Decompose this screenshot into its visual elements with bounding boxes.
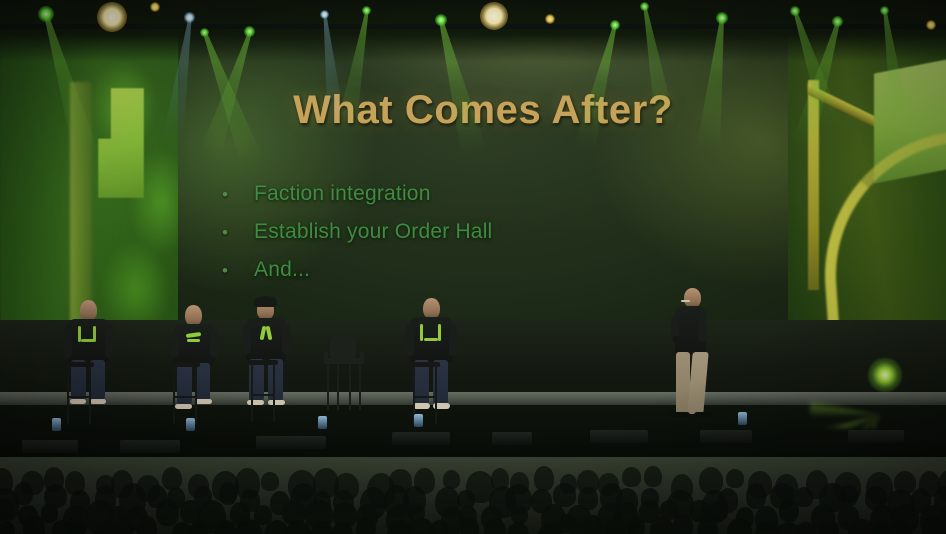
list-item: • Establish your Order Hall: [222, 220, 748, 244]
panelist-2-torso: [174, 324, 214, 366]
panelist-4-arm: [406, 324, 414, 356]
audience-head: [219, 482, 237, 505]
audience-head: [23, 515, 45, 534]
stage-lamp-green: [38, 6, 54, 22]
green-floor-light: [868, 358, 902, 392]
stage-lamp-green: [640, 2, 649, 11]
panelist-4-shirt-logo: [420, 324, 423, 341]
audience-head: [162, 467, 182, 490]
stage-monitor: [22, 440, 78, 453]
floor-par-light: [738, 412, 747, 425]
stage-monitor: [392, 432, 450, 445]
bullet-dot-icon: •: [222, 186, 230, 203]
stage-monitor: [590, 430, 648, 443]
stage-lamp-amber: [926, 20, 936, 30]
list-item: • Faction integration: [222, 182, 748, 206]
projection-screen: What Comes After? • Faction integration …: [178, 30, 788, 320]
audience-head: [644, 466, 662, 487]
audience-head: [559, 514, 577, 533]
audience-head: [872, 519, 891, 534]
panelist-1-arm: [105, 326, 113, 358]
audience-head: [137, 516, 157, 534]
stage-lamp-amber: [545, 14, 555, 24]
stage-lamp-cyan: [320, 10, 329, 19]
slide-title: What Comes After?: [178, 88, 788, 133]
stool-leg: [67, 366, 69, 424]
panelist-1-head: [80, 300, 97, 321]
headset-mic-icon: [681, 300, 690, 302]
audience-head: [0, 499, 14, 520]
stool-leg: [273, 364, 275, 422]
panelist-2-shirt-logo: [187, 339, 200, 342]
stage-monitor: [492, 432, 532, 445]
audience-head: [0, 521, 15, 534]
stool-leg: [89, 366, 91, 424]
presenter-shoe: [670, 412, 690, 418]
stage-lamp-green: [716, 12, 728, 24]
stage-monitor: [256, 436, 326, 449]
stage-lamp-green: [362, 6, 371, 15]
stool-leg: [251, 364, 253, 422]
panelist-2-arm: [171, 331, 179, 357]
audience-head: [66, 517, 85, 534]
lighting-truss: [0, 0, 946, 62]
stool-rung: [173, 396, 197, 398]
bullet-label: Faction integration: [254, 182, 431, 206]
audience-head: [114, 516, 134, 534]
stool-rung: [251, 394, 275, 396]
audience-head: [356, 517, 376, 534]
panelist-3-arm: [243, 324, 251, 354]
stage-monitor: [848, 430, 904, 443]
chair-armrest: [324, 352, 328, 364]
floor-par-light: [52, 418, 61, 431]
stage-monitor: [700, 430, 752, 443]
stool-leg: [195, 366, 197, 424]
panelist-4-head: [423, 298, 440, 319]
presenter-shoe: [694, 412, 714, 418]
left-scenic-column: [70, 82, 92, 332]
stage-lamp-cyan: [184, 12, 195, 23]
floor-par-light: [318, 416, 327, 429]
truss-bar: [0, 24, 946, 29]
stage-lamp-white: [97, 2, 127, 32]
stage-lamp-green: [790, 6, 800, 16]
stool-leg: [173, 366, 175, 424]
chair-armrest: [360, 352, 364, 364]
panelist-2-head: [185, 305, 202, 326]
stage-lamp-green: [832, 16, 843, 27]
stool-1: [64, 362, 98, 426]
panelist-1-arm: [64, 326, 72, 358]
stage-lamp-amber: [150, 2, 160, 12]
audience-head: [261, 472, 279, 491]
stool-leg: [435, 366, 437, 424]
bullet-dot-icon: •: [222, 224, 230, 241]
panelist-1-shirt-logo: [81, 339, 94, 342]
floor-par-light: [414, 414, 423, 427]
stage-monitor: [120, 440, 180, 453]
panelist-4-shirt-logo: [438, 324, 441, 341]
panelist-3-cap: [254, 296, 277, 307]
audience-head: [507, 522, 529, 534]
bullet-dot-icon: •: [222, 262, 230, 279]
stage-riser-edge: [0, 392, 946, 405]
audience-head: [839, 485, 858, 506]
audience-head: [779, 499, 799, 522]
standing-presenter: [668, 288, 718, 434]
handheld-clicker-icon: [673, 336, 682, 342]
panelist-3-torso: [246, 318, 286, 362]
stage-lamp-white: [480, 2, 508, 30]
slide-bullet-list: • Faction integration • Establish your O…: [222, 182, 748, 296]
presenter-arm: [699, 316, 707, 342]
audience-head: [41, 503, 58, 523]
chair-legs: [327, 364, 361, 410]
stage-lamp-green: [435, 14, 447, 26]
panelist-4-shirt-logo: [424, 338, 438, 341]
list-item: • And...: [222, 258, 748, 282]
audience-head: [673, 514, 693, 534]
stage-lamp-green: [244, 26, 255, 37]
panelist-2-arm: [210, 331, 218, 357]
presenter-head: [684, 288, 701, 308]
audience-head: [922, 515, 946, 534]
stage-photo: What Comes After? • Faction integration …: [0, 0, 946, 534]
stage-lamp-green: [200, 28, 209, 37]
right-scenic-panel: [786, 16, 946, 336]
right-scenic-band-vertical: [808, 80, 819, 290]
presenter-leg: [687, 352, 708, 414]
audience-head: [622, 467, 641, 487]
audience-head: [583, 515, 603, 534]
crowd-silhouettes: [0, 462, 946, 534]
bullet-label: And...: [254, 258, 310, 282]
stool-3: [248, 360, 282, 424]
audience-head: [553, 483, 576, 507]
left-scenic-panel: [0, 22, 205, 337]
audience-head: [534, 466, 554, 491]
floor-par-light: [186, 418, 195, 431]
stage-lamp-green: [880, 6, 889, 15]
audience-head: [484, 518, 506, 534]
stool-2: [170, 362, 204, 426]
empty-chair: [322, 336, 366, 410]
audience-head: [726, 469, 744, 488]
bullet-label: Establish your Order Hall: [254, 220, 492, 244]
audience-head: [818, 519, 839, 534]
audience-head: [156, 499, 179, 526]
chair-back: [330, 336, 356, 358]
stool-rung: [413, 396, 437, 398]
audience-head: [461, 518, 479, 534]
panelist-4-arm: [449, 324, 457, 356]
presentation-slide: What Comes After? • Faction integration …: [178, 30, 788, 320]
panelist-3-arm: [282, 324, 290, 354]
audience-head: [14, 482, 33, 505]
stool-rung: [67, 396, 91, 398]
audience-head: [746, 483, 766, 509]
audience-head: [627, 516, 645, 534]
stage-lamp-green: [610, 20, 620, 30]
